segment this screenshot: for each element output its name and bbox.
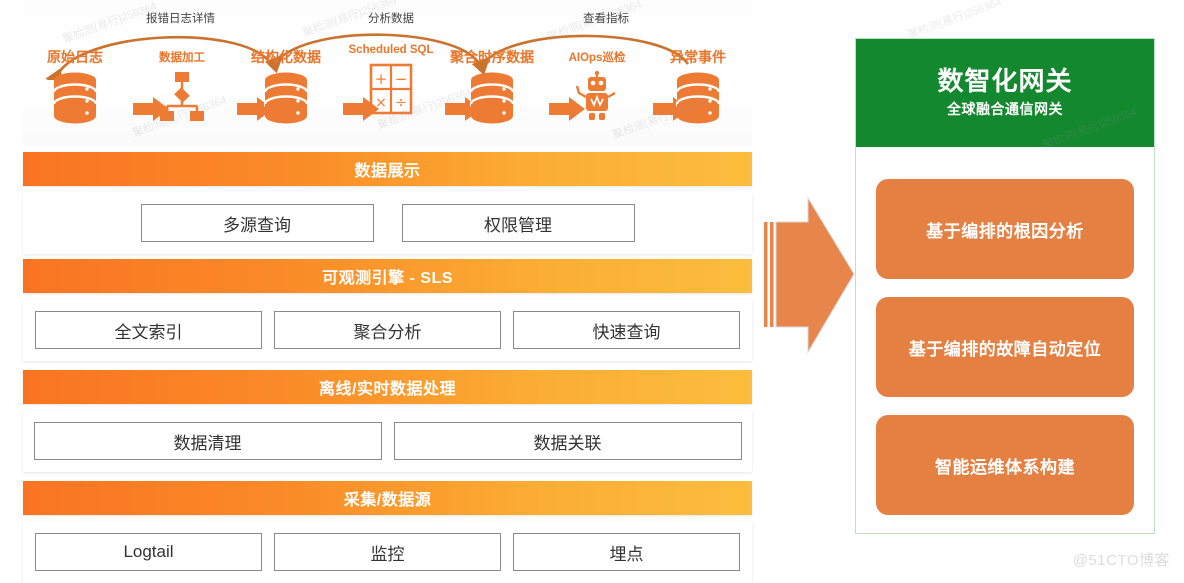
gateway-panel: 数智化网关 全球融合通信网关 基于编排的根因分析 基于编排的故障自动定位 智能运… bbox=[855, 38, 1155, 534]
pipeline-node-label: Scheduled SQL bbox=[336, 44, 446, 57]
database-icon bbox=[437, 71, 547, 127]
layer-title: 采集/数据源 bbox=[344, 486, 431, 510]
layer-items-observability-engine-sls: 全文索引 聚合分析 快速查询 bbox=[23, 299, 752, 361]
data-pipeline-diagram: 报错日志详情 分析数据 查看指标 原始日志 bbox=[23, 0, 752, 146]
robot-icon bbox=[542, 71, 652, 127]
database-icon bbox=[20, 71, 130, 127]
svg-text:×: × bbox=[375, 95, 387, 111]
pipeline-node-label: AIOps巡检 bbox=[542, 52, 652, 65]
capability-card-aiops-system-building[interactable]: 智能运维体系构建 bbox=[876, 415, 1134, 515]
layer-title: 可观测引擎 - SLS bbox=[322, 264, 453, 288]
chip-aggregate-analysis[interactable]: 聚合分析 bbox=[274, 311, 501, 349]
chip-data-correlation[interactable]: 数据关联 bbox=[394, 422, 742, 460]
dataflow-icon bbox=[127, 71, 237, 127]
big-arrow-right-icon bbox=[762, 196, 858, 356]
chip-multi-source-query[interactable]: 多源查询 bbox=[141, 204, 374, 242]
layer-items-offline-realtime-processing: 数据清理 数据关联 bbox=[23, 410, 752, 472]
pipeline-node-label: 聚合时序数据 bbox=[437, 50, 547, 65]
pipeline-node-label: 原始日志 bbox=[20, 50, 130, 65]
pipeline-node-label: 异常事件 bbox=[643, 50, 753, 65]
database-icon bbox=[231, 71, 341, 127]
pipeline-node-scheduled-sql: Scheduled SQL + − × ÷ bbox=[336, 44, 446, 119]
layer-title: 数据展示 bbox=[354, 157, 420, 181]
svg-text:÷: ÷ bbox=[395, 95, 407, 111]
layer-header-observability-engine-sls: 可观测引擎 - SLS bbox=[23, 259, 752, 293]
observability-stack-region: 报错日志详情 分析数据 查看指标 原始日志 bbox=[0, 0, 775, 580]
layer-items-collection-datasource: Logtail 监控 埋点 bbox=[23, 521, 752, 583]
pipeline-node-label: 结构化数据 bbox=[231, 50, 341, 65]
watermark-tile: 聚检测(易行)256364 bbox=[905, 0, 1004, 42]
gateway-title: 数智化网关 bbox=[937, 67, 1072, 97]
gateway-header: 数智化网关 全球融合通信网关 bbox=[856, 39, 1154, 147]
pipeline-node-aiops-inspection: AIOps巡检 bbox=[542, 52, 652, 127]
pipeline-arc-label-1: 分析数据 bbox=[368, 10, 414, 26]
pipeline-node-structured-data: 结构化数据 bbox=[231, 50, 341, 127]
pipeline-node-label: 数据加工 bbox=[127, 52, 237, 65]
pipeline-node-original-log: 原始日志 bbox=[20, 50, 130, 127]
chip-tracking-point[interactable]: 埋点 bbox=[513, 533, 740, 571]
capability-card-root-cause-analysis[interactable]: 基于编排的根因分析 bbox=[876, 179, 1134, 279]
layer-header-collection-datasource: 采集/数据源 bbox=[23, 481, 752, 515]
calculator-icon: + − × ÷ bbox=[336, 63, 446, 119]
layer-title: 离线/实时数据处理 bbox=[319, 375, 456, 399]
svg-text:−: − bbox=[395, 70, 408, 88]
pipeline-arc-label-0: 报错日志详情 bbox=[146, 10, 215, 26]
site-watermark: @51CTO博客 bbox=[1073, 549, 1170, 570]
pipeline-node-aggregated-timeseries: 聚合时序数据 bbox=[437, 50, 547, 127]
chip-data-cleaning[interactable]: 数据清理 bbox=[34, 422, 382, 460]
chip-permission-management[interactable]: 权限管理 bbox=[402, 204, 635, 242]
pipeline-node-anomaly-event: 异常事件 bbox=[643, 50, 753, 127]
chip-monitoring[interactable]: 监控 bbox=[274, 533, 501, 571]
pipeline-node-data-processing: 数据加工 bbox=[127, 52, 237, 127]
chip-fast-query[interactable]: 快速查询 bbox=[513, 311, 740, 349]
svg-text:+: + bbox=[375, 70, 388, 88]
chip-fulltext-index[interactable]: 全文索引 bbox=[35, 311, 262, 349]
database-icon bbox=[643, 71, 753, 127]
pipeline-arc-label-2: 查看指标 bbox=[583, 10, 629, 26]
chip-logtail[interactable]: Logtail bbox=[35, 533, 262, 571]
capability-card-fault-auto-location[interactable]: 基于编排的故障自动定位 bbox=[876, 297, 1134, 397]
layer-items-data-presentation: 多源查询 权限管理 bbox=[23, 192, 752, 254]
layer-header-offline-realtime-processing: 离线/实时数据处理 bbox=[23, 370, 752, 404]
gateway-subtitle: 全球融合通信网关 bbox=[947, 99, 1063, 119]
layer-header-data-presentation: 数据展示 bbox=[23, 152, 752, 186]
